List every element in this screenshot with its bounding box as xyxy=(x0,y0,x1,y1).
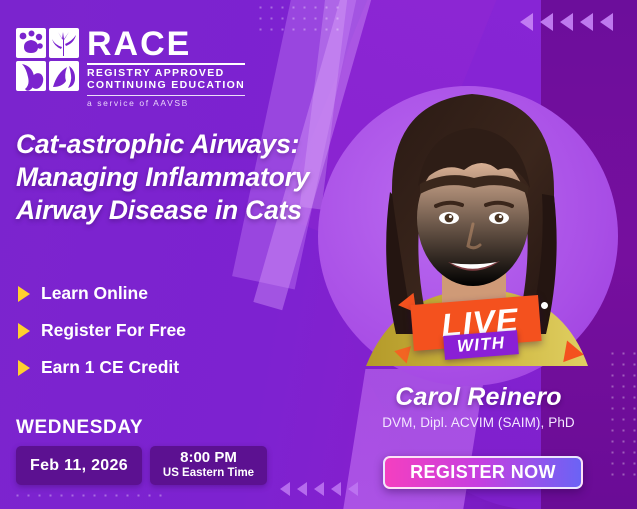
triangle-icon xyxy=(520,13,533,31)
speaker-info: Carol Reinero DVM, Dipl. ACVIM (SAIM), P… xyxy=(330,383,627,430)
title-line-2: Managing Inflammatory xyxy=(16,161,388,194)
triangle-icon xyxy=(280,482,290,496)
triangle-icon xyxy=(600,13,613,31)
with-badge: WITH xyxy=(443,330,519,360)
triangle-icon xyxy=(331,482,341,496)
title-line-1: Cat-astrophic Airways: xyxy=(16,128,388,161)
race-logo: RACE REGISTRY APPROVED CONTINUING EDUCAT… xyxy=(16,28,245,108)
time-badge: 8:00 PM US Eastern Time xyxy=(150,446,267,485)
logo-tile-bird xyxy=(49,61,79,91)
triangle-bullet-icon xyxy=(18,323,30,339)
schedule-block: WEDNESDAY Feb 11, 2026 8:00 PM US Easter… xyxy=(16,417,267,485)
accent-triangle-icon xyxy=(563,341,586,366)
register-now-button[interactable]: REGISTER NOW xyxy=(383,456,583,489)
triangle-strip-bottom xyxy=(280,482,358,496)
logo-tile-animal xyxy=(16,61,46,91)
triangle-icon xyxy=(348,482,358,496)
speaker-credentials: DVM, Dipl. ACVIM (SAIM), PhD xyxy=(330,415,627,430)
weekday-label: WEDNESDAY xyxy=(16,417,267,439)
race-logo-mark-icon xyxy=(16,28,79,91)
live-dot-icon xyxy=(541,302,549,310)
date-badge: Feb 11, 2026 xyxy=(16,446,142,485)
live-badge: LIVE WITH xyxy=(412,300,562,364)
logo-tagline-3: a service of AAVSB xyxy=(87,98,245,108)
triangle-bullet-icon xyxy=(18,286,30,302)
benefit-label: Register For Free xyxy=(41,320,186,341)
triangle-icon xyxy=(540,13,553,31)
page-title: Cat-astrophic Airways: Managing Inflamma… xyxy=(16,128,388,227)
register-now-label: REGISTER NOW xyxy=(410,462,556,483)
benefit-label: Earn 1 CE Credit xyxy=(41,357,179,378)
benefit-label: Learn Online xyxy=(41,283,148,304)
logo-tile-paw xyxy=(16,28,46,58)
logo-tile-leaf xyxy=(49,28,79,58)
speaker-name: Carol Reinero xyxy=(330,383,627,412)
triangle-strip-top-right xyxy=(520,13,613,31)
title-line-3: Airway Disease in Cats xyxy=(16,194,388,227)
benefits-list: Learn Online Register For Free Earn 1 CE… xyxy=(18,283,186,378)
dot-pattern-top xyxy=(255,2,345,32)
logo-tagline-2: CONTINUING EDUCATION xyxy=(87,80,245,92)
date-label: Feb 11, 2026 xyxy=(30,457,128,475)
with-label: WITH xyxy=(456,333,506,356)
logo-divider xyxy=(87,63,245,65)
time-label: 8:00 PM xyxy=(180,450,237,467)
triangle-icon xyxy=(580,13,593,31)
logo-divider-2 xyxy=(87,95,245,96)
list-item: Earn 1 CE Credit xyxy=(18,357,186,378)
triangle-icon xyxy=(314,482,324,496)
dot-pattern-bottom-left xyxy=(12,490,162,501)
triangle-bullet-icon xyxy=(18,360,30,376)
webinar-promo-banner: RACE REGISTRY APPROVED CONTINUING EDUCAT… xyxy=(0,0,637,509)
list-item: Learn Online xyxy=(18,283,186,304)
timezone-label: US Eastern Time xyxy=(163,467,254,481)
logo-wordmark: RACE xyxy=(87,29,245,61)
triangle-icon xyxy=(297,482,307,496)
triangle-icon xyxy=(560,13,573,31)
list-item: Register For Free xyxy=(18,320,186,341)
